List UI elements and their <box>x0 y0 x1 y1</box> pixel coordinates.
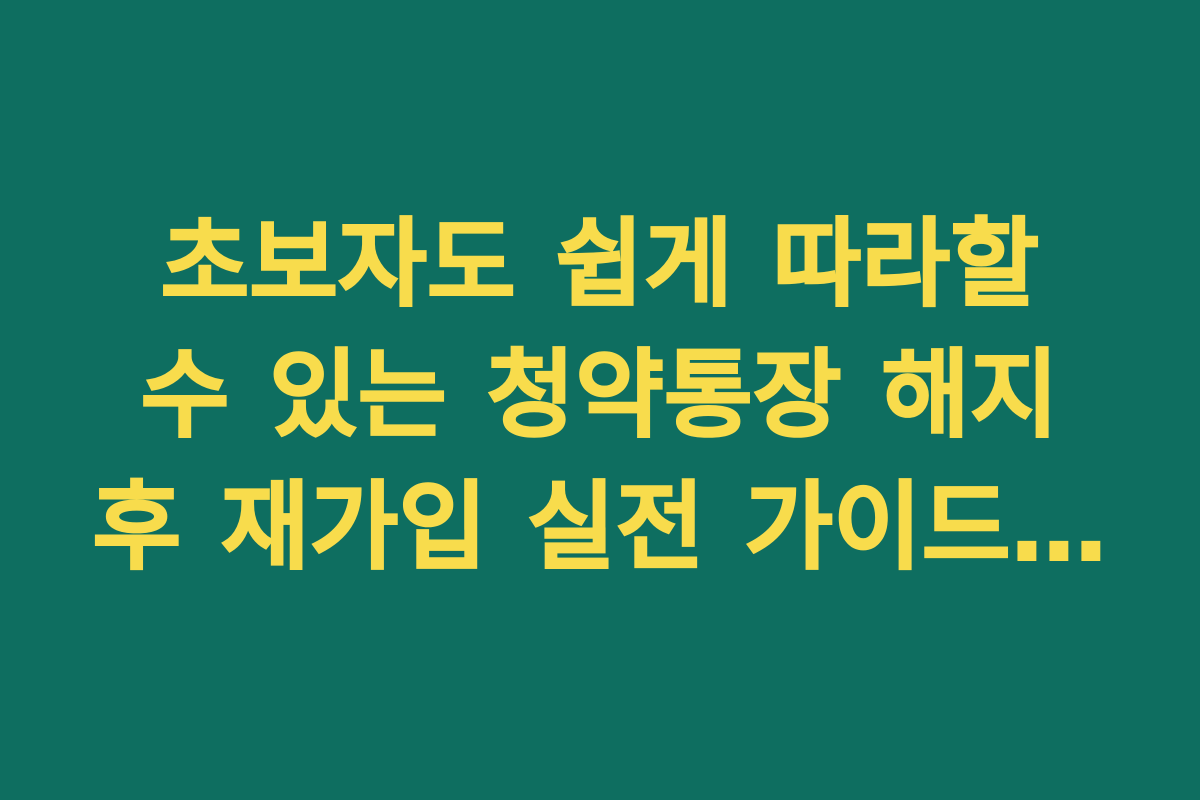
headline-line-1: 초보자도 쉽게 따라할 <box>70 199 1130 331</box>
title-card: 초보자도 쉽게 따라할 수 있는 청약통장 해지 후 재가입 실전 가이드… <box>0 0 1200 800</box>
page-title: 초보자도 쉽게 따라할 수 있는 청약통장 해지 후 재가입 실전 가이드… <box>70 199 1130 594</box>
headline-line-3: 후 재가입 실전 가이드… <box>70 462 1130 594</box>
headline-block: 초보자도 쉽게 따라할 수 있는 청약통장 해지 후 재가입 실전 가이드… <box>70 199 1130 594</box>
headline-line-2: 수 있는 청약통장 해지 <box>70 330 1130 462</box>
